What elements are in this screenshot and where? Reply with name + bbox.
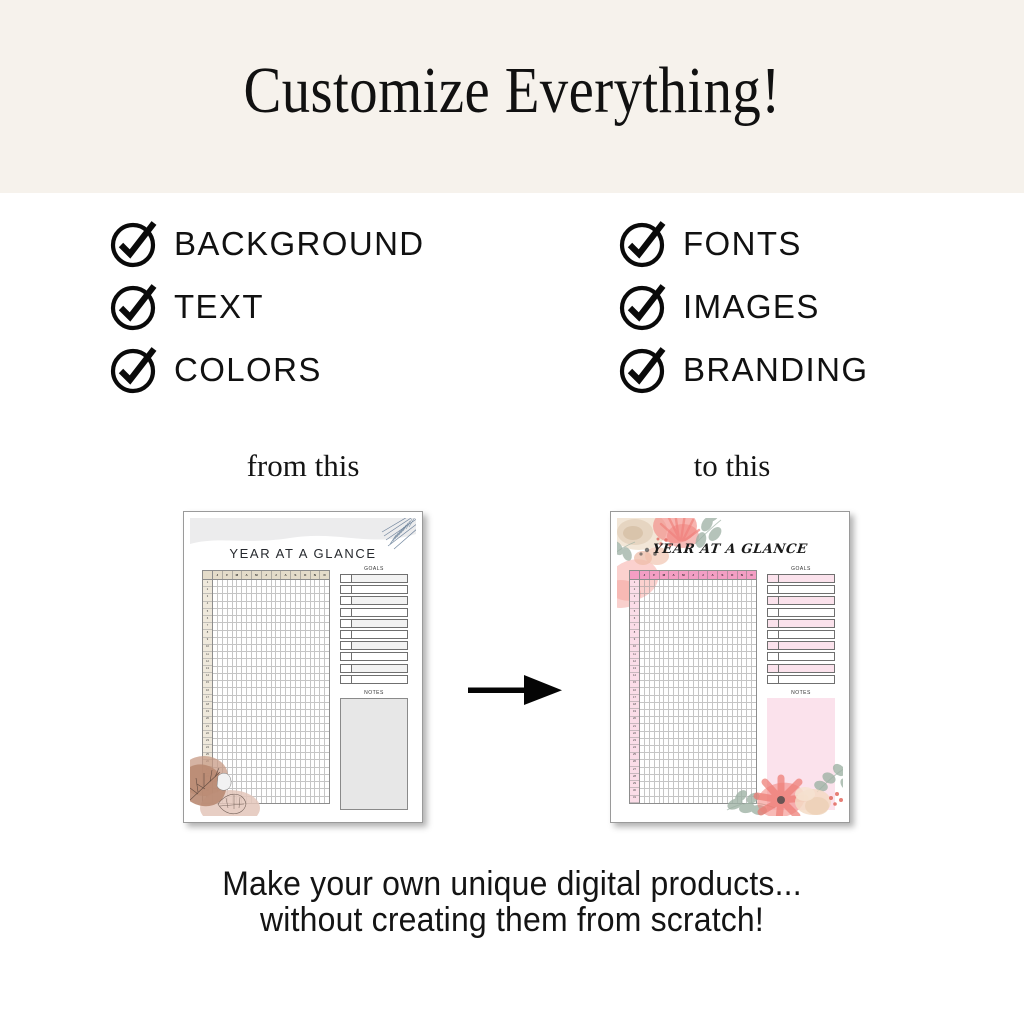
grid-cell[interactable] <box>325 746 329 752</box>
check-circle-icon <box>617 219 667 269</box>
day-number-column: 1 2 3 4 5 6 7 8 9 10 11 12 13 14 15 16 1… <box>202 570 213 804</box>
notes-section-after: NOTES <box>767 690 835 810</box>
feature-label: TEXT <box>174 288 264 326</box>
goal-row[interactable] <box>340 596 408 605</box>
grid-cell[interactable] <box>325 797 329 803</box>
month-label: D <box>320 571 329 579</box>
day-number: 21 <box>203 724 212 731</box>
grid-row[interactable] <box>640 645 756 652</box>
day-number: 26 <box>630 760 639 767</box>
notes-label: NOTES <box>340 690 408 696</box>
day-number: 7 <box>203 623 212 630</box>
day-number: 24 <box>203 745 212 752</box>
grid-cell[interactable] <box>752 623 756 629</box>
planner-preview-after[interactable]: YEAR AT A GLANCE 1 2 3 4 5 6 7 8 9 10 11… <box>610 511 850 823</box>
check-circle-icon <box>617 345 667 395</box>
grid-cell[interactable] <box>752 789 756 795</box>
grid-row[interactable] <box>213 638 329 645</box>
grid-cell[interactable] <box>325 739 329 745</box>
grid-row[interactable] <box>640 710 756 717</box>
grid-cell[interactable] <box>752 631 756 637</box>
goal-checkbox[interactable] <box>341 676 352 683</box>
day-number: 25 <box>203 753 212 760</box>
grid-row[interactable] <box>640 746 756 753</box>
goal-text-line[interactable] <box>779 676 834 683</box>
grid-row[interactable] <box>640 703 756 710</box>
grid-cell[interactable] <box>752 797 756 803</box>
day-number: 13 <box>630 666 639 673</box>
header-banner: Customize Everything! <box>0 0 1024 193</box>
day-number: 14 <box>630 673 639 680</box>
grid-row[interactable] <box>213 775 329 782</box>
day-number: 24 <box>630 745 639 752</box>
day-number: 14 <box>203 673 212 680</box>
goal-text-line[interactable] <box>779 586 834 593</box>
grid-cell[interactable] <box>325 760 329 766</box>
grid-cell[interactable] <box>325 602 329 608</box>
day-number: 27 <box>630 767 639 774</box>
goal-checkbox[interactable] <box>768 653 779 660</box>
grid-cell[interactable] <box>752 638 756 644</box>
day-number: 26 <box>203 760 212 767</box>
goal-row[interactable] <box>767 641 835 650</box>
grid-row[interactable] <box>640 732 756 739</box>
grid-cell[interactable] <box>325 616 329 622</box>
goal-checkbox[interactable] <box>341 586 352 593</box>
grid-row[interactable] <box>213 652 329 659</box>
grid-cell[interactable] <box>325 623 329 629</box>
grid-row[interactable] <box>640 753 756 760</box>
grid-cell[interactable] <box>325 703 329 709</box>
grid-cell[interactable] <box>325 667 329 673</box>
day-number: 18 <box>630 702 639 709</box>
month-label: O <box>301 571 311 579</box>
caption-to-this: to this <box>612 448 852 484</box>
grid-cell[interactable] <box>752 710 756 716</box>
grid-row[interactable] <box>213 739 329 746</box>
grid-cell[interactable] <box>752 587 756 593</box>
goal-row[interactable] <box>767 675 835 684</box>
grid-cell[interactable] <box>325 775 329 781</box>
day-number: 4 <box>203 602 212 609</box>
day-number: 18 <box>203 702 212 709</box>
grid-row[interactable] <box>213 753 329 760</box>
grid-row[interactable] <box>213 760 329 767</box>
grid-cell[interactable] <box>325 631 329 637</box>
month-label: A <box>669 571 679 579</box>
feature-item-text[interactable]: TEXT <box>108 276 425 338</box>
month-label: A <box>281 571 291 579</box>
month-label: A <box>708 571 718 579</box>
day-number: 11 <box>203 652 212 659</box>
grid-cell[interactable] <box>752 746 756 752</box>
day-number: 10 <box>203 645 212 652</box>
day-number: 1 <box>203 580 212 587</box>
grid-row[interactable] <box>640 652 756 659</box>
grid-cell[interactable] <box>752 753 756 759</box>
goal-text-line[interactable] <box>352 631 407 638</box>
goal-row[interactable] <box>767 596 835 605</box>
goals-section-before: GOALS <box>340 566 408 686</box>
goal-text-line[interactable] <box>779 642 834 649</box>
grid-cell[interactable] <box>752 594 756 600</box>
feature-checklist: BACKGROUND TEXT COLORS <box>0 213 1024 413</box>
check-circle-icon <box>617 282 667 332</box>
grid-cell[interactable] <box>752 674 756 680</box>
grid-row[interactable] <box>213 602 329 609</box>
grid-row[interactable] <box>213 688 329 695</box>
grid-row[interactable] <box>213 659 329 666</box>
notes-box[interactable] <box>340 698 408 810</box>
goal-text-line[interactable] <box>779 653 834 660</box>
feature-label: FONTS <box>683 225 802 263</box>
grid-cell[interactable] <box>325 580 329 586</box>
day-number: 22 <box>630 731 639 738</box>
day-number: 30 <box>630 788 639 795</box>
goal-checkbox[interactable] <box>768 665 779 672</box>
grid-row[interactable] <box>640 587 756 594</box>
grid-row[interactable] <box>213 710 329 717</box>
goal-row[interactable] <box>340 585 408 594</box>
month-label: O <box>728 571 738 579</box>
grid-cell[interactable] <box>325 681 329 687</box>
month-label: J <box>213 571 223 579</box>
goal-text-line[interactable] <box>352 609 407 616</box>
grid-cell[interactable] <box>325 594 329 600</box>
grid-row[interactable] <box>640 739 756 746</box>
grid-cell[interactable] <box>752 659 756 665</box>
grid-row[interactable] <box>213 724 329 731</box>
day-number: 16 <box>630 688 639 695</box>
goal-checkbox[interactable] <box>341 642 352 649</box>
goal-text-line[interactable] <box>352 676 407 683</box>
grid-row[interactable] <box>640 789 756 796</box>
grid-cell[interactable] <box>325 674 329 680</box>
grid-row[interactable] <box>213 703 329 710</box>
grid-cell[interactable] <box>752 768 756 774</box>
grid-row[interactable] <box>640 674 756 681</box>
grid-cell[interactable] <box>752 760 756 766</box>
goal-text-line[interactable] <box>779 631 834 638</box>
goal-row[interactable] <box>340 652 408 661</box>
goal-row[interactable] <box>767 664 835 673</box>
grid-cell[interactable] <box>752 739 756 745</box>
grid-cells[interactable] <box>640 580 756 803</box>
comparison-section: from this to this <box>0 440 1024 840</box>
goal-text-line[interactable] <box>352 642 407 649</box>
month-label: N <box>738 571 748 579</box>
grid-row[interactable] <box>213 717 329 724</box>
goal-checkbox[interactable] <box>768 586 779 593</box>
goal-checkbox[interactable] <box>768 642 779 649</box>
day-number: 2 <box>203 587 212 594</box>
day-number: 12 <box>630 659 639 666</box>
month-label: M <box>233 571 243 579</box>
goal-row[interactable] <box>340 630 408 639</box>
goal-checkbox[interactable] <box>341 609 352 616</box>
grid-cell[interactable] <box>752 703 756 709</box>
grid-row[interactable] <box>640 594 756 601</box>
grid-row[interactable] <box>640 760 756 767</box>
grid-cell[interactable] <box>752 782 756 788</box>
day-number: 8 <box>630 630 639 637</box>
day-number: 31 <box>630 796 639 803</box>
grid-cell[interactable] <box>325 659 329 665</box>
check-circle-icon <box>108 345 158 395</box>
day-number: 28 <box>203 774 212 781</box>
caption-from-this: from this <box>183 448 423 484</box>
grid-cell[interactable] <box>325 587 329 593</box>
grid-cell[interactable] <box>325 710 329 716</box>
grid-cell[interactable] <box>752 609 756 615</box>
month-label: J <box>640 571 650 579</box>
day-number-column: 1 2 3 4 5 6 7 8 9 10 11 12 13 14 15 16 1… <box>629 570 640 804</box>
goal-row[interactable] <box>767 608 835 617</box>
year-grid-after[interactable]: 1 2 3 4 5 6 7 8 9 10 11 12 13 14 15 16 1… <box>629 570 757 804</box>
grid-cell[interactable] <box>325 789 329 795</box>
grid-cell[interactable] <box>752 645 756 651</box>
grid-row[interactable] <box>640 717 756 724</box>
grid-row[interactable] <box>213 696 329 703</box>
grid-row[interactable] <box>213 768 329 775</box>
month-label: J <box>689 571 699 579</box>
month-label: S <box>291 571 301 579</box>
day-number: 8 <box>203 630 212 637</box>
arrow-right-icon <box>466 670 566 710</box>
month-label: M <box>660 571 670 579</box>
grid-row[interactable] <box>213 609 329 616</box>
notes-box[interactable] <box>767 698 835 810</box>
grid-row[interactable] <box>213 782 329 789</box>
grid-row[interactable] <box>640 667 756 674</box>
grid-row[interactable] <box>640 659 756 666</box>
grid-row[interactable] <box>640 688 756 695</box>
goal-text-line[interactable] <box>352 653 407 660</box>
check-circle-icon <box>108 282 158 332</box>
grid-cell[interactable] <box>325 782 329 788</box>
grid-cell[interactable] <box>325 645 329 651</box>
grid-cell[interactable] <box>752 602 756 608</box>
month-label: J <box>699 571 709 579</box>
month-label: J <box>272 571 282 579</box>
goal-checkbox[interactable] <box>341 653 352 660</box>
grid-cells[interactable] <box>213 580 329 803</box>
goal-row[interactable] <box>340 675 408 684</box>
day-number: 10 <box>630 645 639 652</box>
grid-cell[interactable] <box>752 688 756 694</box>
goal-row[interactable] <box>767 630 835 639</box>
day-number: 28 <box>630 774 639 781</box>
day-number: 25 <box>630 753 639 760</box>
grid-cell[interactable] <box>752 775 756 781</box>
grid-row[interactable] <box>213 631 329 638</box>
goal-checkbox[interactable] <box>341 631 352 638</box>
grid-row[interactable] <box>640 681 756 688</box>
year-grid-before[interactable]: 1 2 3 4 5 6 7 8 9 10 11 12 13 14 15 16 1… <box>202 570 330 804</box>
goal-row[interactable] <box>340 608 408 617</box>
grid-row[interactable] <box>640 724 756 731</box>
grid-cell[interactable] <box>325 732 329 738</box>
grid-cell[interactable] <box>325 609 329 615</box>
goal-row[interactable] <box>340 664 408 673</box>
goal-text-line[interactable] <box>779 609 834 616</box>
grid-row[interactable] <box>213 674 329 681</box>
month-header-row: J F M A M J J A S O N D <box>213 571 329 580</box>
grid-row[interactable] <box>213 645 329 652</box>
goal-text-line[interactable] <box>352 575 407 582</box>
month-grid[interactable]: J F M A M J J A S O N D <box>213 570 330 804</box>
feature-label: COLORS <box>174 351 322 389</box>
grid-cell[interactable] <box>325 652 329 658</box>
grid-cell[interactable] <box>325 724 329 730</box>
feature-column-right: FONTS IMAGES BRANDING <box>617 213 868 402</box>
grid-row[interactable] <box>213 580 329 587</box>
planner-title-before: YEAR AT A GLANCE <box>190 546 416 561</box>
feature-item-colors[interactable]: COLORS <box>108 339 425 401</box>
planner-preview-before[interactable]: YEAR AT A GLANCE 1 2 3 4 5 6 7 8 9 10 11… <box>183 511 423 823</box>
goals-list[interactable] <box>340 574 408 684</box>
grid-row[interactable] <box>213 681 329 688</box>
grid-cell[interactable] <box>325 753 329 759</box>
grid-cell[interactable] <box>752 681 756 687</box>
day-number: 2 <box>630 587 639 594</box>
feature-label: IMAGES <box>683 288 820 326</box>
planner-page-before: YEAR AT A GLANCE 1 2 3 4 5 6 7 8 9 10 11… <box>190 518 416 816</box>
day-number: 5 <box>203 609 212 616</box>
grid-row[interactable] <box>213 623 329 630</box>
month-label: D <box>747 571 756 579</box>
goal-row[interactable] <box>340 574 408 583</box>
goals-list[interactable] <box>767 574 835 684</box>
goal-row[interactable] <box>767 652 835 661</box>
day-number: 9 <box>203 638 212 645</box>
grid-row[interactable] <box>640 797 756 803</box>
notes-label: NOTES <box>767 690 835 696</box>
day-number: 16 <box>203 688 212 695</box>
day-number: 23 <box>203 738 212 745</box>
goal-checkbox[interactable] <box>768 609 779 616</box>
grid-row[interactable] <box>640 616 756 623</box>
grid-row[interactable] <box>640 696 756 703</box>
grid-cell[interactable] <box>752 717 756 723</box>
goal-row[interactable] <box>340 619 408 628</box>
goals-section-after: GOALS <box>767 566 835 686</box>
grid-row[interactable] <box>213 594 329 601</box>
feature-item-branding[interactable]: BRANDING <box>617 339 868 401</box>
goal-checkbox[interactable] <box>341 597 352 604</box>
grid-row[interactable] <box>640 602 756 609</box>
day-number: 1 <box>630 580 639 587</box>
month-label: M <box>252 571 262 579</box>
grid-row[interactable] <box>640 580 756 587</box>
goal-row[interactable] <box>340 641 408 650</box>
grid-cell[interactable] <box>752 580 756 586</box>
goal-checkbox[interactable] <box>768 631 779 638</box>
grid-cell[interactable] <box>752 652 756 658</box>
day-number: 3 <box>630 594 639 601</box>
grid-row[interactable] <box>213 616 329 623</box>
grid-cell[interactable] <box>752 732 756 738</box>
day-number: 17 <box>203 695 212 702</box>
grid-row[interactable] <box>640 775 756 782</box>
goal-checkbox[interactable] <box>341 575 352 582</box>
goal-row[interactable] <box>767 574 835 583</box>
grid-cell[interactable] <box>752 696 756 702</box>
grid-row[interactable] <box>640 623 756 630</box>
day-number: 23 <box>630 738 639 745</box>
grid-row[interactable] <box>640 782 756 789</box>
grid-row[interactable] <box>640 609 756 616</box>
grid-cell[interactable] <box>325 688 329 694</box>
grid-cell[interactable] <box>752 667 756 673</box>
planner-page-after: YEAR AT A GLANCE 1 2 3 4 5 6 7 8 9 10 11… <box>617 518 843 816</box>
grid-cell[interactable] <box>325 717 329 723</box>
feature-label: BRANDING <box>683 351 868 389</box>
goal-text-line[interactable] <box>352 586 407 593</box>
day-number: 31 <box>203 796 212 803</box>
goal-row[interactable] <box>767 585 835 594</box>
day-column-header <box>630 571 639 580</box>
grid-cell[interactable] <box>752 724 756 730</box>
goal-text-line[interactable] <box>779 575 834 582</box>
feature-item-images[interactable]: IMAGES <box>617 276 868 338</box>
goal-text-line[interactable] <box>779 597 834 604</box>
grid-row[interactable] <box>213 667 329 674</box>
grid-row[interactable] <box>213 797 329 803</box>
grid-row[interactable] <box>640 768 756 775</box>
grid-row[interactable] <box>213 789 329 796</box>
month-label: N <box>311 571 321 579</box>
grid-row[interactable] <box>213 746 329 753</box>
planner-title-after: YEAR AT A GLANCE <box>617 542 843 557</box>
goal-text-line[interactable] <box>779 665 834 672</box>
month-label: F <box>223 571 233 579</box>
grid-row[interactable] <box>213 732 329 739</box>
grid-cell[interactable] <box>325 768 329 774</box>
goal-row[interactable] <box>767 619 835 628</box>
day-number: 20 <box>630 717 639 724</box>
feature-column-left: BACKGROUND TEXT COLORS <box>108 213 425 402</box>
goal-checkbox[interactable] <box>768 597 779 604</box>
grid-cell[interactable] <box>752 616 756 622</box>
goal-text-line[interactable] <box>352 597 407 604</box>
month-label: S <box>718 571 728 579</box>
goal-checkbox[interactable] <box>768 620 779 627</box>
day-number: 12 <box>203 659 212 666</box>
goal-checkbox[interactable] <box>768 676 779 683</box>
feature-item-fonts[interactable]: FONTS <box>617 213 868 275</box>
grid-row[interactable] <box>640 631 756 638</box>
month-grid[interactable]: J F M A M J J A S O N D <box>640 570 757 804</box>
goal-text-line[interactable] <box>352 620 407 627</box>
month-header-row: J F M A M J J A S O N D <box>640 571 756 580</box>
day-number: 9 <box>630 638 639 645</box>
footer-tagline: Make your own unique digital products...… <box>0 866 1024 938</box>
goal-text-line[interactable] <box>352 665 407 672</box>
goal-checkbox[interactable] <box>341 665 352 672</box>
goal-checkbox[interactable] <box>341 620 352 627</box>
grid-row[interactable] <box>213 587 329 594</box>
goal-checkbox[interactable] <box>768 575 779 582</box>
day-number: 19 <box>203 709 212 716</box>
day-number: 29 <box>203 781 212 788</box>
grid-cell[interactable] <box>325 696 329 702</box>
day-number: 13 <box>203 666 212 673</box>
grid-cell[interactable] <box>325 638 329 644</box>
feature-item-background[interactable]: BACKGROUND <box>108 213 425 275</box>
goal-text-line[interactable] <box>779 620 834 627</box>
grid-row[interactable] <box>640 638 756 645</box>
